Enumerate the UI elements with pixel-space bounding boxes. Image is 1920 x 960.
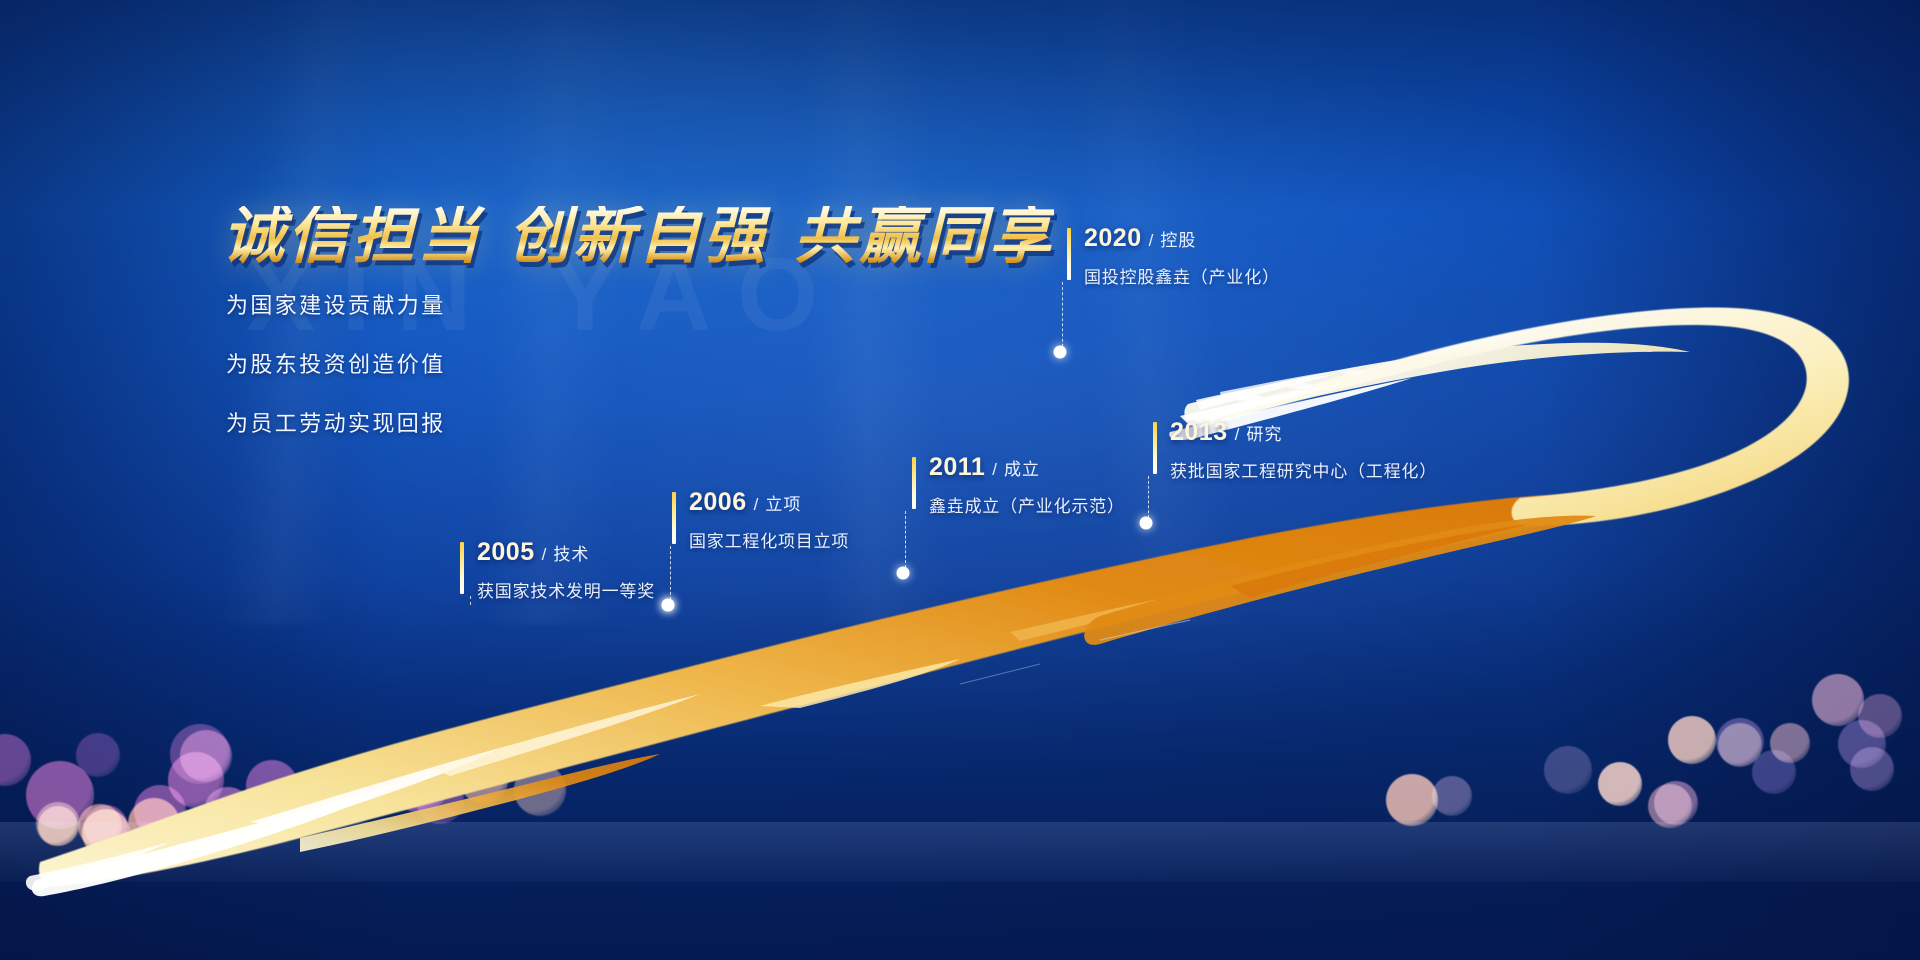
bokeh-dot bbox=[36, 802, 80, 846]
timeline-year: 2005 bbox=[477, 538, 535, 566]
bokeh-dot bbox=[170, 724, 230, 784]
bokeh-dot bbox=[1544, 746, 1592, 794]
timeline-marker-dot[interactable] bbox=[897, 567, 910, 580]
bokeh-dot bbox=[1648, 784, 1692, 828]
timeline-separator: / bbox=[747, 495, 766, 514]
timeline-year: 2020 bbox=[1084, 224, 1142, 252]
bokeh-dot bbox=[1858, 694, 1902, 738]
timeline-description: 鑫垚成立（产业化示范） bbox=[929, 492, 1125, 517]
bokeh-dot bbox=[416, 776, 464, 824]
bokeh-dot bbox=[78, 804, 122, 848]
bokeh-dot bbox=[128, 798, 180, 850]
timeline-year: 2006 bbox=[689, 488, 747, 516]
hero-subline: 为国家建设贡献力量 bbox=[226, 288, 646, 320]
timeline-accent-bar bbox=[1067, 228, 1071, 280]
timeline-item-2011[interactable]: 2011/成立鑫垚成立（产业化示范） bbox=[912, 455, 1125, 517]
hero-subline: 为股东投资创造价值 bbox=[226, 347, 646, 379]
bokeh-dot bbox=[1386, 774, 1438, 826]
timeline-year: 2011 bbox=[929, 453, 985, 481]
bokeh-dot bbox=[514, 764, 566, 816]
timeline-separator: / bbox=[535, 545, 554, 564]
timeline-tag: 技术 bbox=[553, 545, 589, 564]
timeline-accent-bar bbox=[912, 457, 916, 509]
timeline-separator: / bbox=[985, 460, 1004, 479]
bokeh-dot bbox=[1770, 723, 1810, 763]
timeline-accent-bar bbox=[1153, 422, 1157, 474]
bokeh-dot bbox=[204, 787, 252, 835]
timeline-description: 获国家技术发明一等奖 bbox=[477, 577, 655, 602]
timeline-item-2020[interactable]: 2020/控股国投控股鑫垚（产业化） bbox=[1067, 226, 1280, 288]
bokeh-dot bbox=[1718, 723, 1762, 767]
timeline-accent-bar bbox=[460, 542, 464, 594]
timeline-item-2006[interactable]: 2006/立项国家工程化项目立项 bbox=[672, 490, 849, 552]
timeline-tag: 研究 bbox=[1246, 425, 1282, 444]
title-part-2: 创新自强 bbox=[508, 202, 768, 271]
timeline-item-2005[interactable]: 2005/技术获国家技术发明一等奖 bbox=[460, 540, 655, 602]
bokeh-dot bbox=[460, 756, 508, 804]
banner-canvas: XIN YAO bbox=[0, 0, 1920, 960]
timeline-tag: 立项 bbox=[765, 495, 801, 514]
bokeh-dot bbox=[300, 772, 336, 808]
timeline-separator: / bbox=[1228, 425, 1247, 444]
bokeh-dot bbox=[1598, 762, 1642, 806]
hero-subline: 为员工劳动实现回报 bbox=[226, 406, 646, 438]
timeline-connector-line bbox=[905, 511, 906, 573]
hero-sublines: 为国家建设贡献力量 为股东投资创造价值 为员工劳动实现回报 bbox=[226, 288, 646, 465]
timeline-marker-dot[interactable] bbox=[1140, 517, 1153, 530]
bokeh-dot bbox=[1668, 716, 1716, 764]
timeline-marker-dot[interactable] bbox=[662, 599, 675, 612]
background-horizon-band bbox=[0, 822, 1920, 882]
timeline-description: 获批国家工程研究中心（工程化） bbox=[1170, 457, 1437, 482]
timeline-tag: 控股 bbox=[1160, 231, 1196, 250]
timeline-year: 2013 bbox=[1170, 418, 1228, 446]
timeline-connector-line bbox=[1062, 282, 1063, 352]
timeline-item-2013[interactable]: 2013/研究获批国家工程研究中心（工程化） bbox=[1153, 420, 1437, 482]
page-title: 诚信担当创新自强共赢同享 bbox=[222, 206, 1054, 268]
timeline-tag: 成立 bbox=[1004, 460, 1040, 479]
timeline-description: 国投控股鑫垚（产业化） bbox=[1084, 263, 1280, 288]
timeline-separator: / bbox=[1142, 231, 1161, 250]
bokeh-dot bbox=[76, 733, 120, 777]
timeline-connector-line bbox=[670, 546, 671, 605]
bokeh-dot bbox=[1812, 674, 1864, 726]
timeline-accent-bar bbox=[672, 492, 676, 544]
title-part-1: 诚信担当 bbox=[222, 202, 482, 271]
timeline-marker-dot[interactable] bbox=[1054, 346, 1067, 359]
timeline-description: 国家工程化项目立项 bbox=[689, 527, 849, 552]
bokeh-dot bbox=[1850, 747, 1894, 791]
bokeh-dot bbox=[1432, 776, 1472, 816]
title-part-3: 共赢同享 bbox=[794, 202, 1054, 271]
